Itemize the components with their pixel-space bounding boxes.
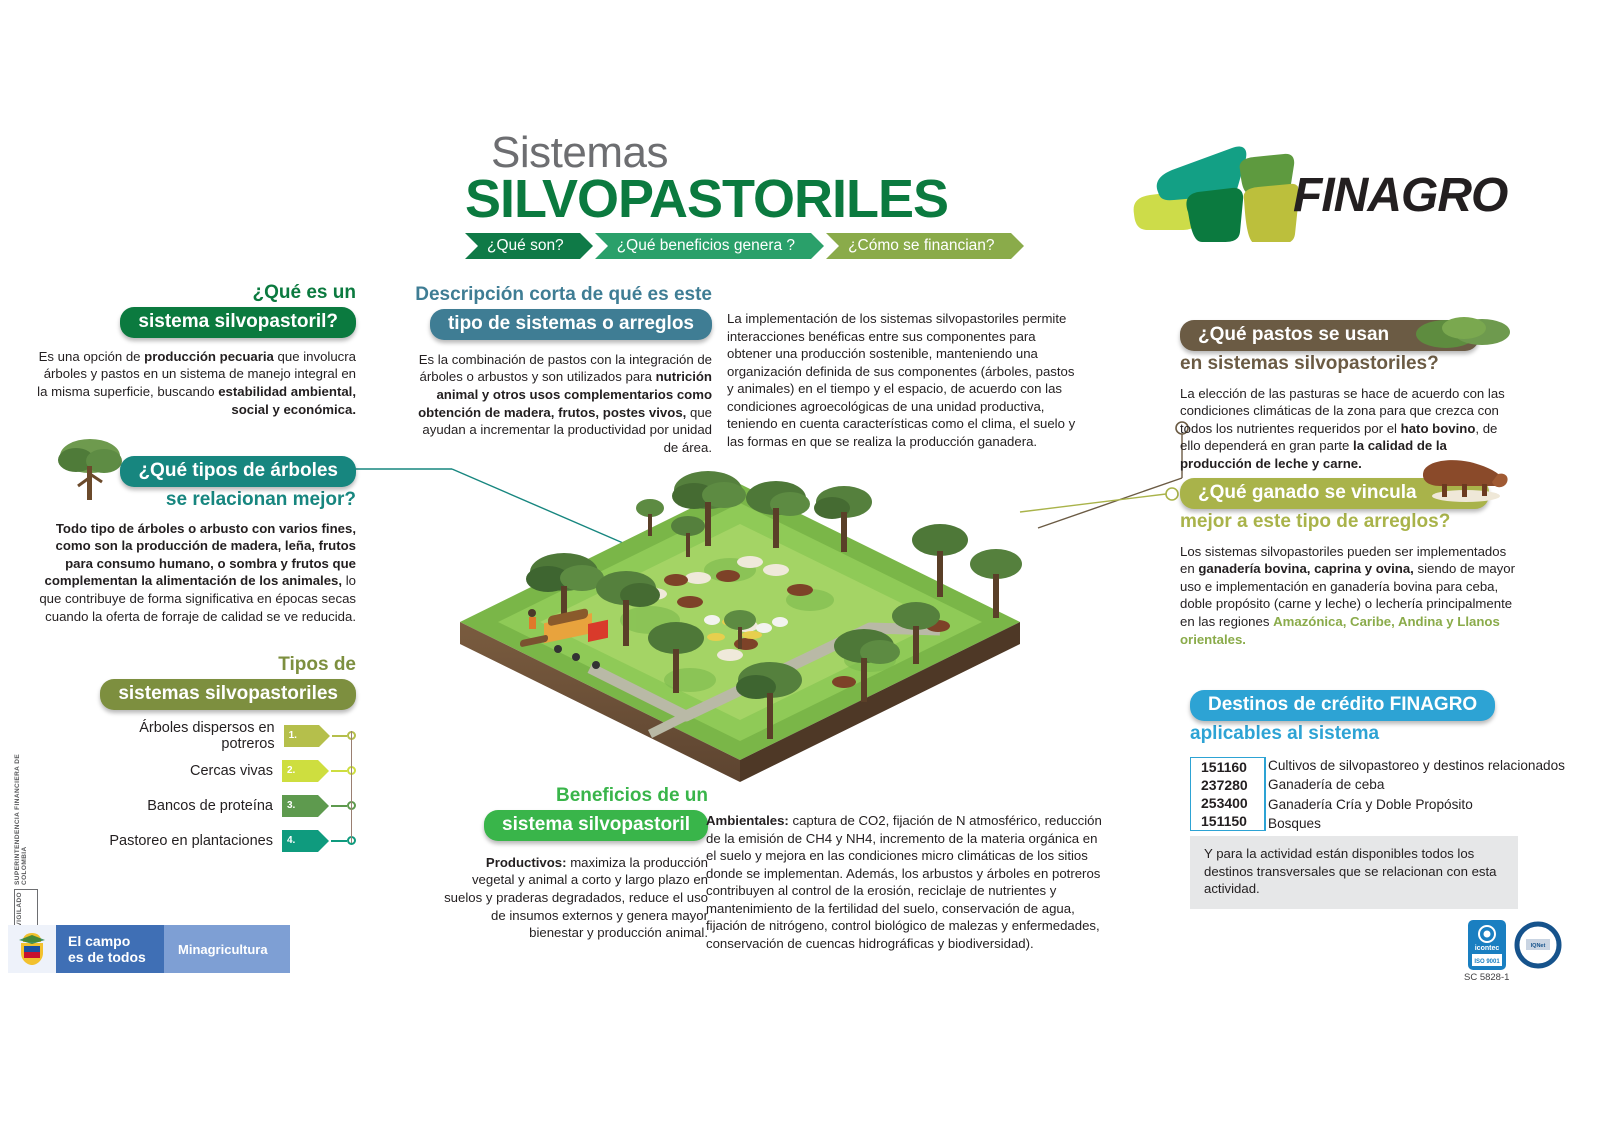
credit-row: 151150 [1191,812,1265,830]
section-what-is: ¿Qué es un sistema silvopastoril? Es una… [36,283,356,418]
type-row[interactable]: Pastoreo en plantaciones4. [88,829,356,853]
tab-que-son[interactable]: ¿Qué son? [465,233,580,259]
benefits-productive: Productivos: maximiza la producción vege… [440,854,708,942]
what-is-body: Es una opción de producción pecuaria que… [36,348,356,418]
types-list: Árboles dispersos en potreros1.Cercas vi… [88,724,356,853]
benefits-ribbon: sistema silvopastoril [484,810,708,841]
livestock-body: Los sistemas silvopastoriles pueden ser … [1180,543,1520,648]
title-line-1: Sistemas [465,132,1045,174]
tab-financian[interactable]: ¿Cómo se financian? [826,233,1010,259]
tab-beneficios[interactable]: ¿Qué beneficios genera ? [595,233,811,259]
vigilado-label: VIGILADO [16,892,23,927]
type-row[interactable]: Árboles dispersos en potreros1. [88,724,356,748]
gov-slogan: El campo es de todos [56,925,164,973]
credit-row: 237280 [1191,776,1265,794]
colombia-coat-of-arms-icon [8,925,56,973]
benefits-environmental-wrap: Ambientales: captura de CO2, fijación de… [706,812,1106,952]
tree-types-body: Todo tipo de árboles o arbusto con vario… [36,520,356,625]
credit-ribbon: Destinos de crédito FINAGRO [1190,690,1495,721]
types-top: Tipos de [88,655,356,676]
credit-code-table: 151160237280253400151150 [1190,757,1266,831]
section-tree-types: ¿Qué tipos de árboles se relacionan mejo… [36,456,356,625]
type-number-chip: 4. [282,830,318,852]
what-is-top: ¿Qué es un [36,283,356,304]
credit-description: Ganadería de ceba [1268,775,1565,794]
type-number-chip: 2. [282,760,318,782]
credit-description-list: Cultivos de silvopastoreo y destinos rel… [1268,756,1565,833]
section-benefits: Beneficios de un sistema silvopastoril P… [440,786,708,942]
ministry-label: Minagricultura [164,925,290,973]
finagro-wordmark: FINAGRO [1293,168,1507,223]
credit-sub: aplicables al sistema [1190,723,1520,745]
title-line-2: SILVOPASTORILES [465,174,1045,225]
vigilado-notice: SUPERINTENDENCIA FINANCIERA DE COLOMBIA … [14,745,38,885]
government-footer: El campo es de todos Minagricultura [8,925,290,973]
section-system-types: Tipos de sistemas silvopastoriles Árbole… [88,655,356,864]
benefits-environmental: Ambientales: captura de CO2, fijación de… [706,812,1106,952]
section-pastures: ¿Qué pastos se usan en sistemas silvopas… [1180,320,1520,473]
silvopastoral-illustration [440,430,1040,790]
type-label: Pastoreo en plantaciones [109,833,273,849]
type-connector-line [332,735,348,737]
tree-types-ribbon: ¿Qué tipos de árboles [120,456,356,487]
type-label: Cercas vivas [190,763,273,779]
type-label: Árboles dispersos en potreros [88,720,275,752]
description-ribbon: tipo de sistemas o arreglos [430,309,712,340]
credit-row: 151160 [1191,758,1265,776]
type-connector-line [331,840,347,842]
finagro-logo: FINAGRO [1128,142,1528,242]
svg-text:icontec: icontec [1475,945,1500,952]
type-row[interactable]: Bancos de proteína3. [88,794,356,818]
what-is-ribbon: sistema silvopastoril? [120,307,356,338]
svg-text:ISO 9001: ISO 9001 [1474,959,1500,965]
type-label: Bancos de proteína [147,798,273,814]
credit-description: Bosques [1268,814,1565,833]
title-tabs: ¿Qué son? ¿Qué beneficios genera ? ¿Cómo… [465,233,1045,259]
credit-row: 253400 [1191,794,1265,812]
infographic-page: Sistemas SILVOPASTORILES ¿Qué son? ¿Qué … [0,0,1600,1132]
credit-code: 237280 [1191,776,1265,794]
gov-slogan-line-2: es de todos [68,949,164,965]
livestock-sub: mejor a este tipo de arreglos? [1180,511,1520,533]
credit-note-text: Y para la actividad están disponibles to… [1204,845,1506,898]
finagro-mark-icon [1128,142,1298,242]
type-number-chip: 1. [284,725,319,747]
vigilado-box: VIGILADO [14,889,38,930]
vigilado-sub: SUPERINTENDENCIA FINANCIERA DE COLOMBIA [14,745,28,885]
pastures-sub: en sistemas silvopastoriles? [1180,353,1520,375]
description-top: Descripción corta de qué es este [412,285,712,306]
certificate-code: SC 5828-1 [1464,972,1509,983]
credit-code: 151150 [1191,812,1265,830]
gov-slogan-line-1: El campo [68,933,164,949]
credit-note: Y para la actividad están disponibles to… [1190,836,1518,909]
credit-code: 151160 [1191,758,1265,776]
bush-icon [1412,316,1522,350]
types-ribbon: sistemas silvopastoriles [100,679,356,710]
cow-icon [1416,456,1512,504]
type-connector-line [331,770,347,772]
credit-code: 253400 [1191,794,1265,812]
type-number-chip: 3. [282,795,318,817]
type-row[interactable]: Cercas vivas2. [88,759,356,783]
credit-description: Cultivos de silvopastoreo y destinos rel… [1268,756,1565,775]
section-livestock: ¿Qué ganado se vincula mejor a este tipo… [1180,478,1520,648]
credit-description: Ganadería Cría y Doble Propósito [1268,795,1565,814]
type-connector-line [331,805,347,807]
title-block: Sistemas SILVOPASTORILES ¿Qué son? ¿Qué … [465,132,1045,259]
types-vertical-connector [351,731,353,843]
svg-text:IQNet: IQNet [1531,943,1546,949]
